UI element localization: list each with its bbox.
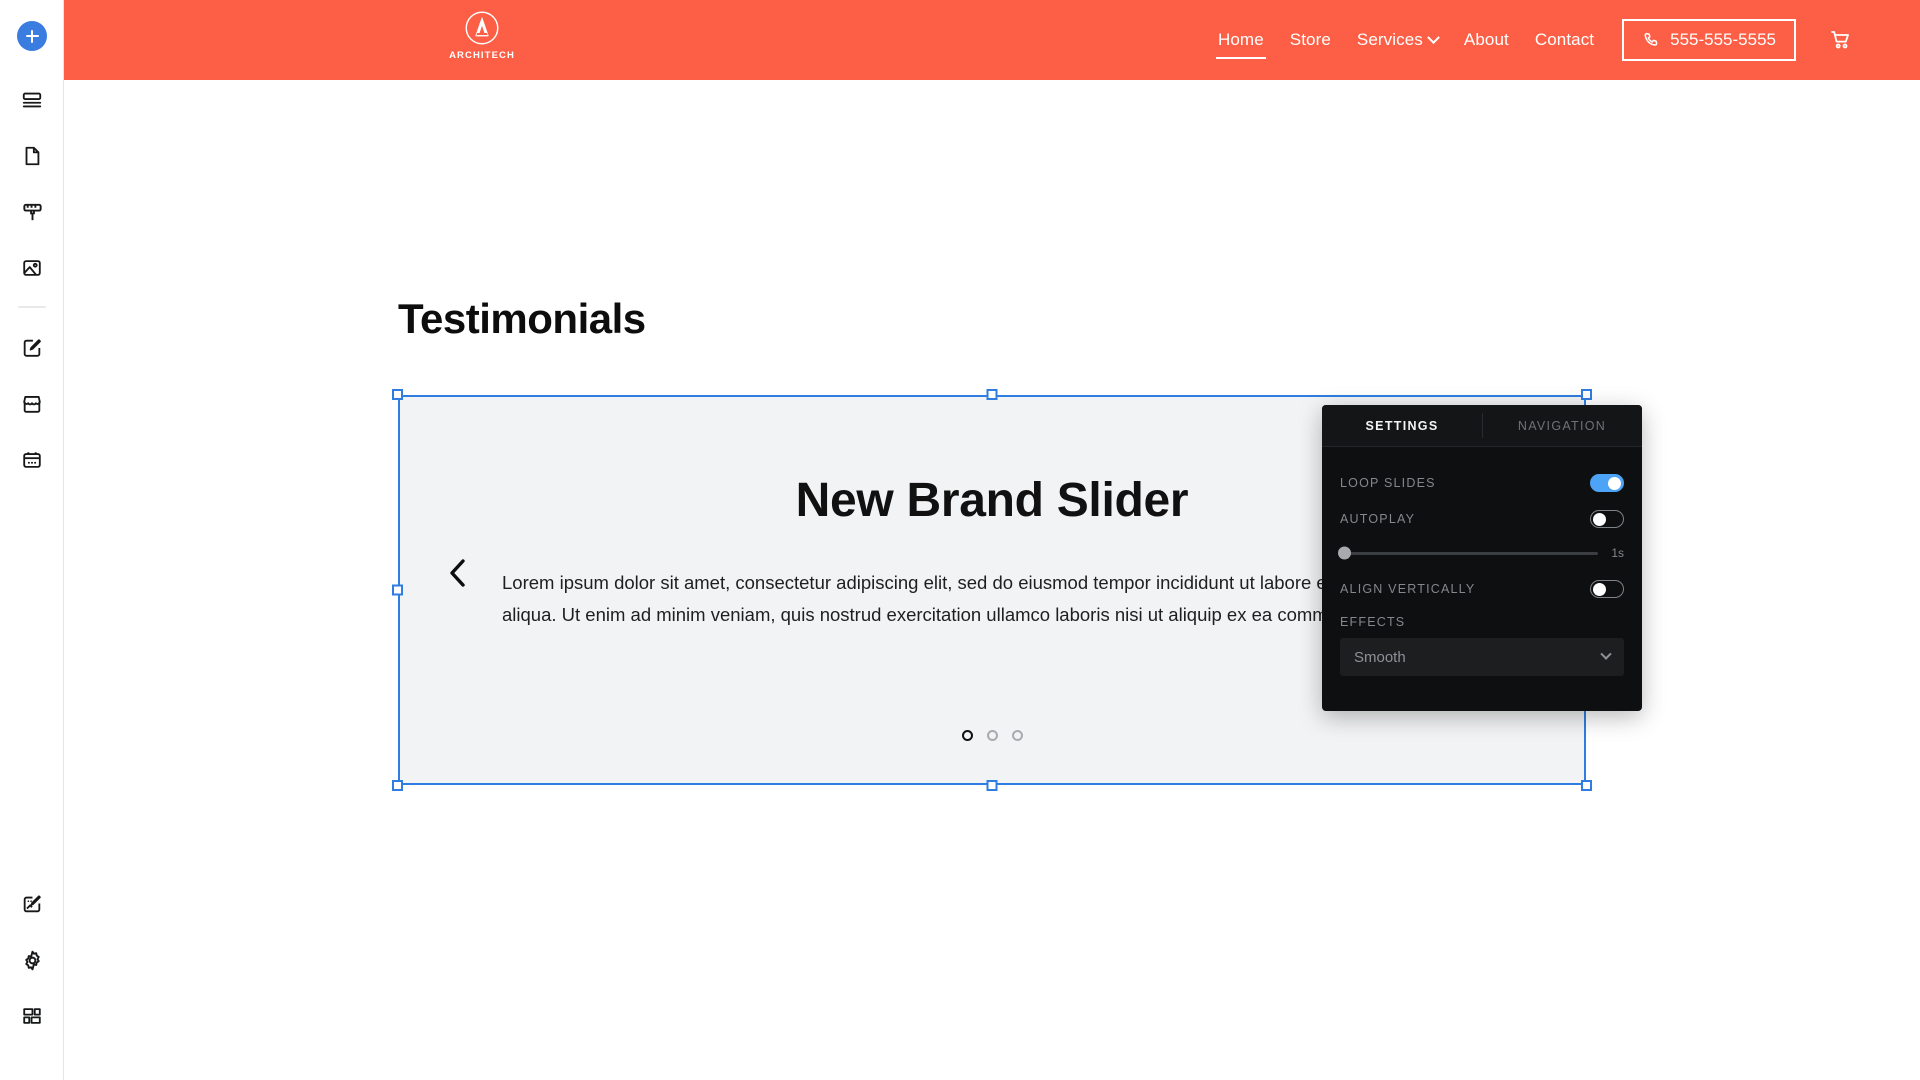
align-vertically-toggle[interactable] xyxy=(1590,580,1624,598)
rail-top-group xyxy=(0,0,63,488)
marketing-icon xyxy=(21,893,43,915)
resize-handle-top-right[interactable] xyxy=(1581,389,1592,400)
toggle-knob xyxy=(1593,513,1606,526)
phone-button[interactable]: 555-555-5555 xyxy=(1622,19,1796,61)
align-vertically-row: ALIGN VERTICALLY xyxy=(1340,571,1624,607)
autoplay-toggle[interactable] xyxy=(1590,510,1624,528)
editor-root: ARCHITECH Home Store Services About xyxy=(0,0,1920,1080)
page-title: Testimonials xyxy=(398,295,646,343)
nav-item-store-label: Store xyxy=(1290,30,1331,50)
rail-bottom-group xyxy=(0,876,63,1044)
site-nav: Home Store Services About Contact xyxy=(1216,0,1858,80)
loop-slides-toggle[interactable] xyxy=(1590,474,1624,492)
chevron-down-icon xyxy=(1427,31,1440,44)
slider-settings-panel: SETTINGS NAVIGATION LOOP SLIDES AUTOPLAY xyxy=(1322,405,1642,711)
loop-slides-row: LOOP SLIDES xyxy=(1340,465,1624,501)
phone-icon xyxy=(1642,31,1660,49)
align-vertically-label: ALIGN VERTICALLY xyxy=(1340,582,1475,596)
site-header: ARCHITECH Home Store Services About xyxy=(64,0,1920,80)
nav-item-home-label: Home xyxy=(1218,30,1264,50)
nav-item-store[interactable]: Store xyxy=(1288,26,1333,54)
gear-icon xyxy=(21,949,44,972)
resize-handle-top-center[interactable] xyxy=(987,389,998,400)
architech-compass-logo xyxy=(464,10,500,46)
chevron-left-icon xyxy=(440,553,476,593)
logo-text: ARCHITECH xyxy=(449,50,515,61)
tab-settings-label: SETTINGS xyxy=(1366,419,1439,433)
autoplay-delay-slider[interactable] xyxy=(1340,552,1598,555)
slider-pagination xyxy=(398,730,1586,741)
resize-handle-bottom-center[interactable] xyxy=(987,780,998,791)
slider-prev-button[interactable] xyxy=(440,553,476,593)
nav-item-contact[interactable]: Contact xyxy=(1533,26,1596,54)
design-button[interactable] xyxy=(0,184,64,240)
storefront-icon xyxy=(21,393,43,415)
autoplay-delay-value: 1s xyxy=(1608,546,1624,560)
paintbrush-icon xyxy=(21,201,44,224)
nav-links: Home Store Services About Contact xyxy=(1216,26,1596,54)
image-icon xyxy=(21,257,43,279)
store-button[interactable] xyxy=(0,376,64,432)
apps-button[interactable] xyxy=(0,988,64,1044)
nav-item-services[interactable]: Services xyxy=(1355,26,1440,54)
site-canvas: ARCHITECH Home Store Services About xyxy=(64,0,1920,1080)
marketing-button[interactable] xyxy=(0,876,64,932)
grid-apps-icon xyxy=(21,1005,43,1027)
effects-select[interactable]: Smooth xyxy=(1340,638,1624,676)
rail-divider xyxy=(18,306,46,308)
settings-button[interactable] xyxy=(0,932,64,988)
effects-label: EFFECTS xyxy=(1340,615,1624,629)
nav-item-about[interactable]: About xyxy=(1462,26,1511,54)
phone-button-label: 555-555-5555 xyxy=(1670,30,1776,50)
tab-navigation-label: NAVIGATION xyxy=(1518,419,1606,433)
autoplay-row: AUTOPLAY xyxy=(1340,501,1624,537)
resize-handle-bottom-left[interactable] xyxy=(392,780,403,791)
slider-thumb[interactable] xyxy=(1338,547,1351,560)
add-button[interactable] xyxy=(0,0,64,72)
resize-handle-bottom-right[interactable] xyxy=(1581,780,1592,791)
resize-handle-top-left[interactable] xyxy=(392,389,403,400)
media-button[interactable] xyxy=(0,240,64,296)
autoplay-delay-row: 1s xyxy=(1340,539,1624,567)
toggle-knob xyxy=(1593,583,1606,596)
plus-icon xyxy=(17,21,47,51)
editor-left-rail xyxy=(0,0,64,1080)
nav-item-contact-label: Contact xyxy=(1535,30,1594,50)
panel-body: LOOP SLIDES AUTOPLAY 1s xyxy=(1322,447,1642,676)
sections-button[interactable] xyxy=(0,72,64,128)
loop-slides-label: LOOP SLIDES xyxy=(1340,476,1436,490)
nav-item-home[interactable]: Home xyxy=(1216,26,1266,54)
resize-handle-middle-left[interactable] xyxy=(392,585,403,596)
nav-item-about-label: About xyxy=(1464,30,1509,50)
slider-dot-1[interactable] xyxy=(962,730,973,741)
panel-tab-bar: SETTINGS NAVIGATION xyxy=(1322,405,1642,447)
tab-navigation[interactable]: NAVIGATION xyxy=(1482,405,1642,446)
site-logo[interactable]: ARCHITECH xyxy=(450,10,514,61)
scheduling-button[interactable] xyxy=(0,432,64,488)
blog-button[interactable] xyxy=(0,320,64,376)
page-icon xyxy=(21,145,43,167)
slider-dot-2[interactable] xyxy=(987,730,998,741)
autoplay-label: AUTOPLAY xyxy=(1340,512,1415,526)
pages-button[interactable] xyxy=(0,128,64,184)
sections-icon xyxy=(21,89,43,111)
edit-square-icon xyxy=(21,337,43,359)
toggle-knob xyxy=(1608,477,1621,490)
tab-settings[interactable]: SETTINGS xyxy=(1322,405,1482,446)
slider-dot-3[interactable] xyxy=(1012,730,1023,741)
chevron-down-icon xyxy=(1600,649,1611,660)
shopping-cart-icon xyxy=(1829,28,1853,52)
calendar-icon xyxy=(21,449,43,471)
nav-item-services-label: Services xyxy=(1357,30,1423,50)
cart-button[interactable] xyxy=(1824,23,1858,57)
effects-select-value: Smooth xyxy=(1354,649,1406,666)
